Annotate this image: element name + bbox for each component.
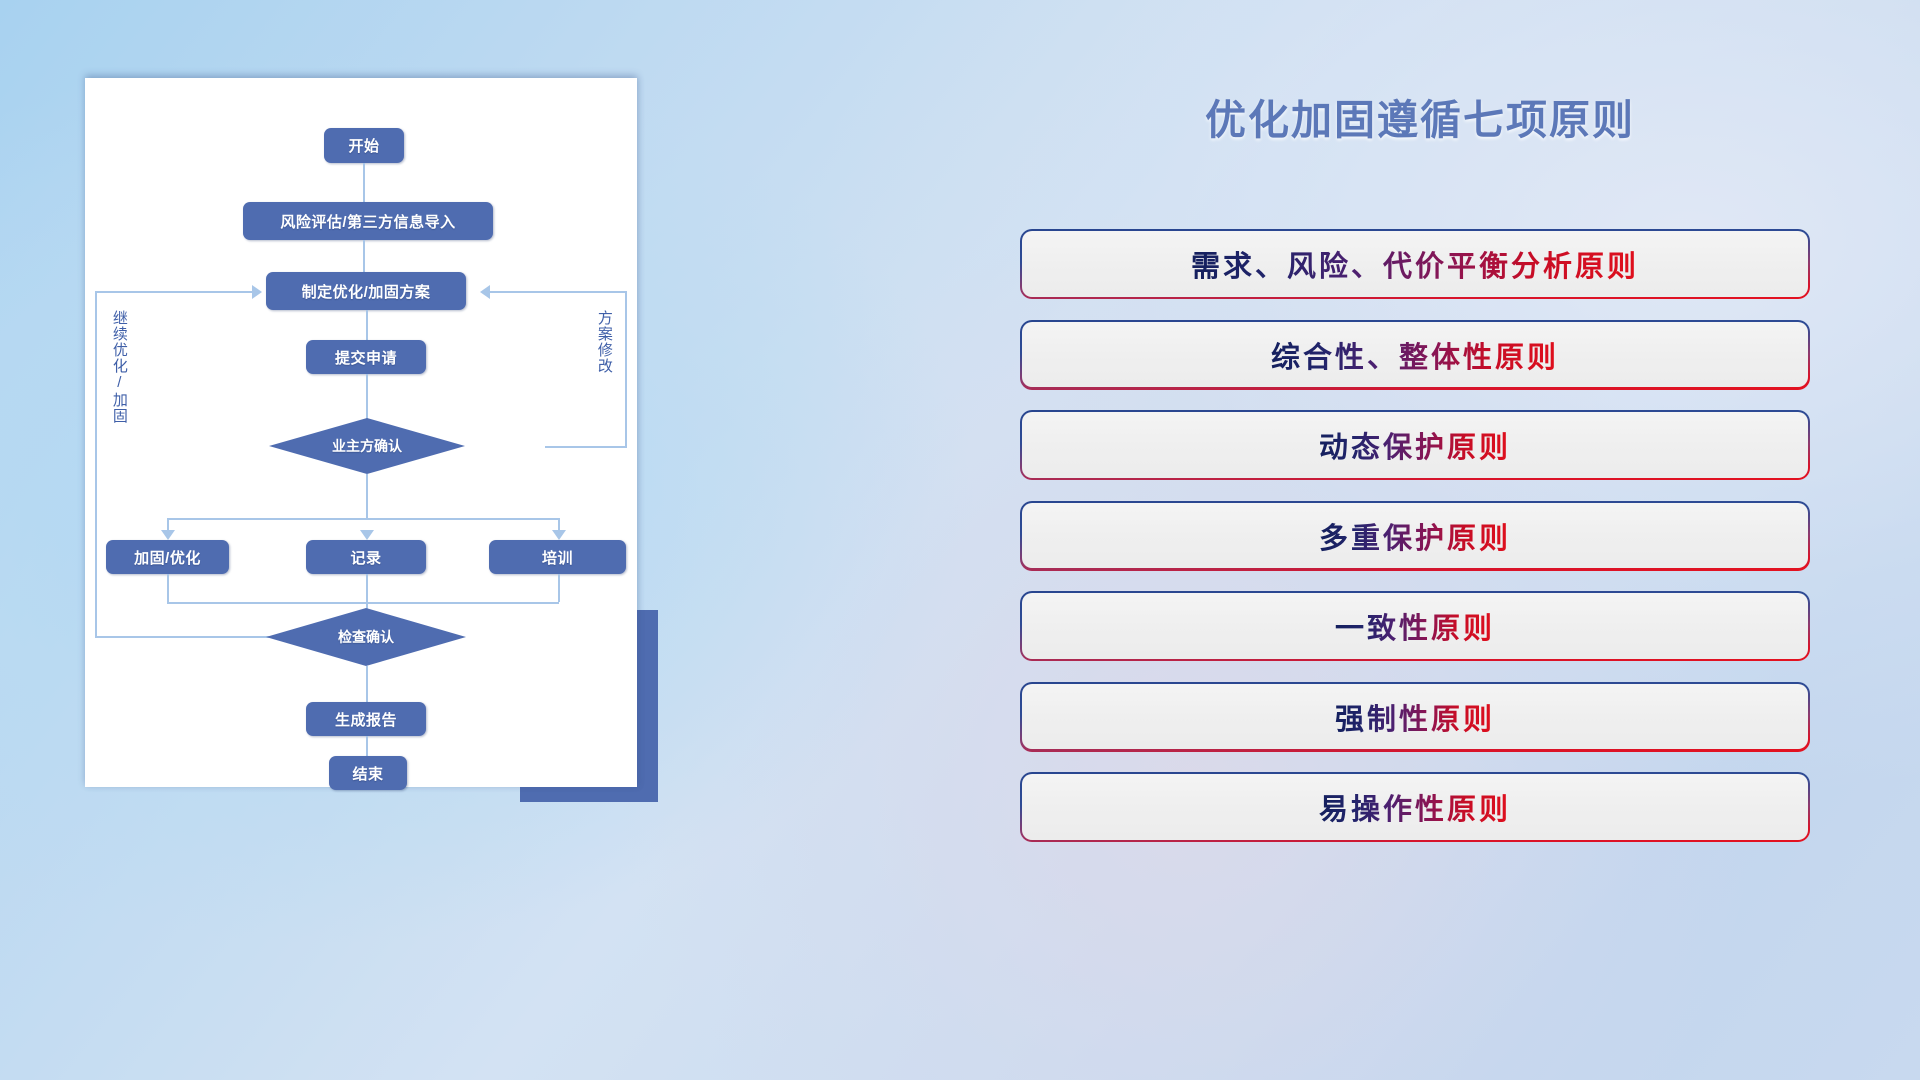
loop-right-top-horizontal [490,291,627,293]
principle-item[interactable]: 多重保护原则 [1020,501,1810,571]
principle-frame: 易操作性原则 [1020,772,1810,842]
flowchart-card: 开始 风险评估/第三方信息导入 制定优化/加固方案 继续优化/加固 方案修改 [85,78,637,787]
principle-label: 综合性、整体性原则 [1271,334,1559,376]
principle-frame: 需求、风险、代价平衡分析原则 [1020,229,1810,299]
slide-canvas: 开始 风险评估/第三方信息导入 制定优化/加固方案 继续优化/加固 方案修改 [0,0,1920,1080]
flow-node-start[interactable]: 开始 [324,128,404,163]
merge-horizontal [167,602,559,604]
principle-item[interactable]: 强制性原则 [1020,682,1810,752]
principle-inner: 强制性原则 [1022,684,1807,749]
principle-frame: 强制性原则 [1020,682,1810,752]
arrowhead-right-plan [252,285,262,299]
principle-inner: 多重保护原则 [1022,503,1807,568]
principle-label: 强制性原则 [1335,696,1495,738]
principles-title: 优化加固遵循七项原则 [1020,86,1820,146]
loop-left-vertical [95,291,97,636]
arrowhead-down-reinforce [161,530,175,540]
merge-right-vertical [558,574,560,602]
arrowhead-left-plan [480,285,490,299]
principle-label: 动态保护原则 [1319,424,1511,466]
principles-list: 需求、风险、代价平衡分析原则 综合性、整体性原则 动态保护原则 [1020,229,1820,863]
edge-label-plan-revision: 方案修改 [596,310,612,374]
flow-node-inspect-confirm[interactable]: 检查确认 [266,608,466,666]
flow-node-reinforce[interactable]: 加固/优化 [106,540,229,574]
principle-inner: 一致性原则 [1022,593,1807,658]
flow-node-record[interactable]: 记录 [306,540,426,574]
principle-item[interactable]: 需求、风险、代价平衡分析原则 [1020,229,1810,299]
loop-left-top-horizontal [95,291,252,293]
flow-node-plan[interactable]: 制定优化/加固方案 [266,272,466,310]
principle-frame: 一致性原则 [1020,591,1810,661]
principle-label: 一致性原则 [1335,605,1495,647]
principle-label: 多重保护原则 [1319,515,1511,557]
branch-horizontal [167,518,559,520]
principle-frame: 多重保护原则 [1020,501,1810,571]
flow-node-submit[interactable]: 提交申请 [306,340,426,374]
loop-right-vertical [625,291,627,446]
merge-left-vertical [167,574,169,602]
principle-inner: 综合性、整体性原则 [1022,322,1807,387]
principles-panel: 优化加固遵循七项原则 需求、风险、代价平衡分析原则 综合性、整体性原则 [1020,86,1820,1006]
principle-item[interactable]: 易操作性原则 [1020,772,1810,842]
flowchart-diagram: 开始 风险评估/第三方信息导入 制定优化/加固方案 继续优化/加固 方案修改 [85,78,637,787]
flow-node-owner-confirm[interactable]: 业主方确认 [269,418,465,474]
loop-right-bottom-horizontal [545,446,627,448]
principle-item[interactable]: 综合性、整体性原则 [1020,320,1810,390]
principle-label: 需求、风险、代价平衡分析原则 [1191,243,1639,285]
principle-label: 易操作性原则 [1319,786,1511,828]
edge-label-continue-optimize: 继续优化/加固 [111,310,127,424]
flow-node-report[interactable]: 生成报告 [306,702,426,736]
arrowhead-down-record [360,530,374,540]
flow-node-risk-assessment[interactable]: 风险评估/第三方信息导入 [243,202,493,240]
principle-inner: 易操作性原则 [1022,774,1807,839]
principle-item[interactable]: 一致性原则 [1020,591,1810,661]
flow-node-training[interactable]: 培训 [489,540,626,574]
connector-owner-to-branch [366,474,368,518]
principle-inner: 动态保护原则 [1022,412,1807,477]
principle-item[interactable]: 动态保护原则 [1020,410,1810,480]
principle-frame: 综合性、整体性原则 [1020,320,1810,390]
principle-inner: 需求、风险、代价平衡分析原则 [1022,231,1807,296]
arrowhead-down-training [552,530,566,540]
principle-frame: 动态保护原则 [1020,410,1810,480]
flow-node-end[interactable]: 结束 [329,756,407,790]
